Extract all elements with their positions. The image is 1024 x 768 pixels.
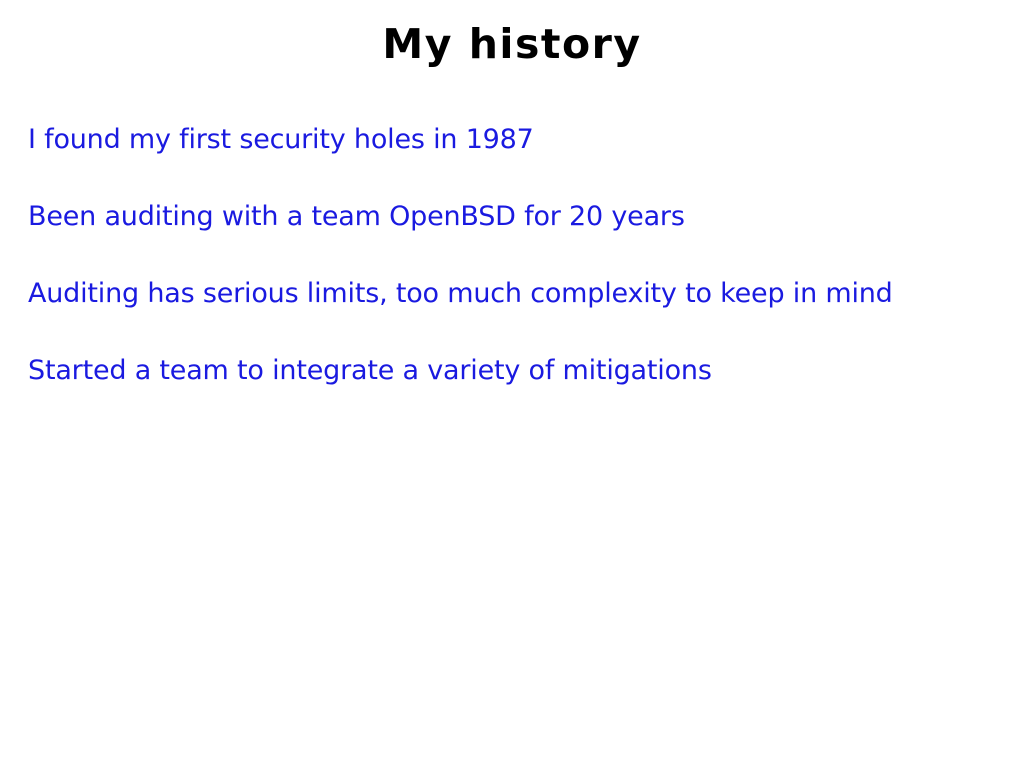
body-line-2: Been auditing with a team OpenBSD for 20… bbox=[28, 200, 996, 234]
body-line-3: Auditing has serious limits, too much co… bbox=[28, 277, 996, 311]
presentation-slide: My history I found my first security hol… bbox=[0, 0, 1024, 768]
page-title: My history bbox=[0, 18, 1024, 70]
body-line-1: I found my first security holes in 1987 bbox=[28, 123, 996, 157]
body-line-4: Started a team to integrate a variety of… bbox=[28, 354, 996, 388]
slide-body: I found my first security holes in 1987 … bbox=[28, 123, 996, 388]
